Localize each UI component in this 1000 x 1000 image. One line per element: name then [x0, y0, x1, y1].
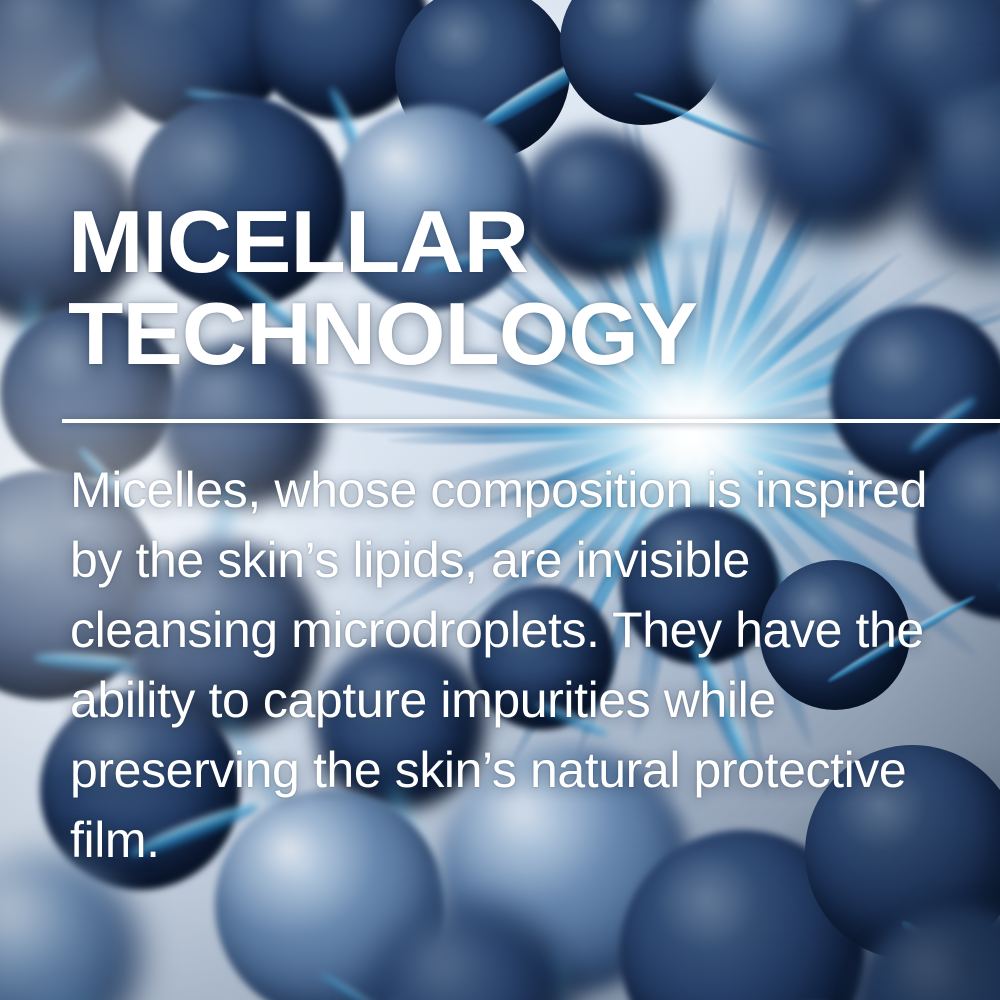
title-divider-rule: [62, 419, 1000, 423]
body-line: Micelles, whose composition is inspired: [70, 455, 970, 525]
micellar-technology-poster: MICELLAR TECHNOLOGY Micelles, whose comp…: [0, 0, 1000, 1000]
body-line: film.: [70, 805, 970, 875]
body-line: ability to capture impurities while: [70, 665, 970, 735]
body-line: by the skin’s lipids, are invisible: [70, 525, 970, 595]
body-paragraph: Micelles, whose composition is inspired …: [70, 455, 970, 875]
body-line: cleansing microdroplets. They have the: [70, 595, 970, 665]
page-title: MICELLAR TECHNOLOGY: [68, 196, 968, 380]
poster-content: MICELLAR TECHNOLOGY Micelles, whose comp…: [0, 0, 1000, 1000]
title-line-2: TECHNOLOGY: [68, 288, 995, 380]
body-line: preserving the skin’s natural protective: [70, 735, 970, 805]
title-line-1: MICELLAR: [68, 196, 995, 288]
